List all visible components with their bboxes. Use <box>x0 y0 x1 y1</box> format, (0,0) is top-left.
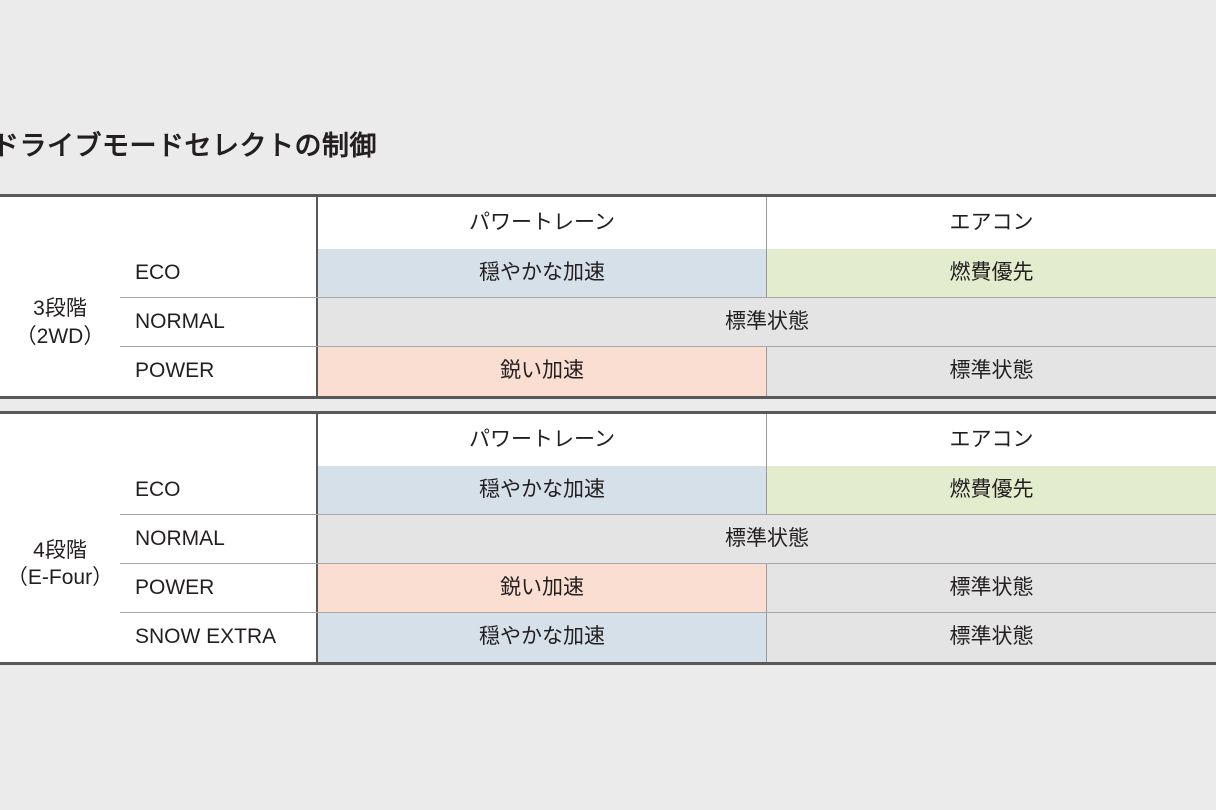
table-row: SNOW EXTRA 穏やかな加速 標準状態 <box>0 613 1216 662</box>
header-aircon: エアコン <box>766 197 1216 249</box>
cell-merged-normal: 標準状態 <box>316 515 1216 564</box>
cell-aircon-eco: 燃費優先 <box>766 466 1216 515</box>
table-row: ECO 穏やかな加速 燃費優先 <box>0 249 1216 298</box>
header-powertrain: パワートレーン <box>316 197 766 249</box>
group-label-3-stage: 3段階 （2WD） <box>0 249 120 396</box>
table-row: POWER 鋭い加速 標準状態 <box>0 347 1216 396</box>
page-root: ドライブモードセレクトの制御 パワートレーン エアコン 3段階 （2WD） EC… <box>0 0 1216 810</box>
table-header-row: パワートレーン エアコン <box>0 197 1216 249</box>
table-row: NORMAL 標準状態 <box>0 515 1216 564</box>
cell-powertrain-snow-extra: 穏やかな加速 <box>316 613 766 662</box>
mode-name-snow-extra: SNOW EXTRA <box>120 613 316 662</box>
header-blank-cell <box>0 414 316 466</box>
group-label-line2: （E-Four） <box>7 564 113 591</box>
table-header-row: パワートレーン エアコン <box>0 414 1216 466</box>
cell-aircon-power: 標準状態 <box>766 564 1216 613</box>
table-body: 3段階 （2WD） ECO 穏やかな加速 燃費優先 NORMAL 標準状態 PO… <box>0 249 1216 396</box>
header-powertrain: パワートレーン <box>316 414 766 466</box>
group-label-line2: （2WD） <box>16 323 105 350</box>
mode-name-eco: ECO <box>120 249 316 298</box>
cell-powertrain-eco: 穏やかな加速 <box>316 466 766 515</box>
cell-aircon-snow-extra: 標準状態 <box>766 613 1216 662</box>
mode-name-normal: NORMAL <box>120 298 316 347</box>
cell-aircon-power: 標準状態 <box>766 347 1216 396</box>
group-label-line1: 4段階 <box>33 537 87 564</box>
table-row: NORMAL 標準状態 <box>0 298 1216 347</box>
table-body: 4段階 （E-Four） ECO 穏やかな加速 燃費優先 NORMAL 標準状態… <box>0 466 1216 662</box>
header-blank-cell <box>0 197 316 249</box>
mode-name-normal: NORMAL <box>120 515 316 564</box>
cell-powertrain-power: 鋭い加速 <box>316 564 766 613</box>
mode-name-power: POWER <box>120 347 316 396</box>
group-label-line1: 3段階 <box>33 295 87 322</box>
mode-name-power: POWER <box>120 564 316 613</box>
group-label-4-stage: 4段階 （E-Four） <box>0 466 120 662</box>
cell-merged-normal: 標準状態 <box>316 298 1216 347</box>
drive-mode-table-4-stage: パワートレーン エアコン 4段階 （E-Four） ECO 穏やかな加速 燃費優… <box>0 411 1216 665</box>
cell-powertrain-eco: 穏やかな加速 <box>316 249 766 298</box>
page-title: ドライブモードセレクトの制御 <box>0 130 692 162</box>
table-row: POWER 鋭い加速 標準状態 <box>0 564 1216 613</box>
mode-name-eco: ECO <box>120 466 316 515</box>
header-aircon: エアコン <box>766 414 1216 466</box>
table-row: ECO 穏やかな加速 燃費優先 <box>0 466 1216 515</box>
cell-aircon-eco: 燃費優先 <box>766 249 1216 298</box>
cell-powertrain-power: 鋭い加速 <box>316 347 766 396</box>
drive-mode-table-3-stage: パワートレーン エアコン 3段階 （2WD） ECO 穏やかな加速 燃費優先 N… <box>0 194 1216 399</box>
